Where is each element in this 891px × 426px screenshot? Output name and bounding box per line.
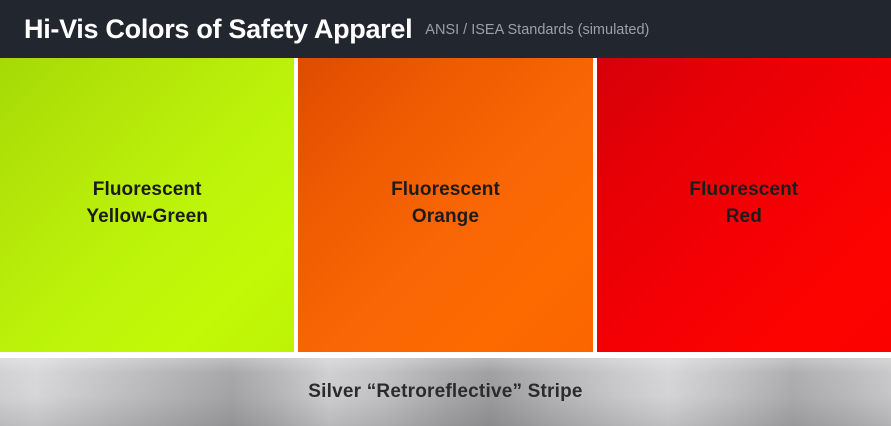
swatch-label-orange: Fluorescent Orange xyxy=(391,177,500,233)
swatch-row: Fluorescent Yellow-Green Fluorescent Ora… xyxy=(0,58,891,352)
swatch-fluorescent-red[interactable]: Fluorescent Red xyxy=(597,58,891,352)
swatch-fluorescent-yellow-green[interactable]: Fluorescent Yellow-Green xyxy=(0,58,294,352)
chart-header: Hi-Vis Colors of Safety Apparel ANSI / I… xyxy=(0,0,891,58)
silver-retroreflective-stripe: Silver “Retroreflective” Stripe xyxy=(0,358,891,426)
swatch-fluorescent-orange[interactable]: Fluorescent Orange xyxy=(298,58,592,352)
page-title: Hi-Vis Colors of Safety Apparel xyxy=(24,16,412,43)
header-subtitle: ANSI / ISEA Standards (simulated) xyxy=(425,23,649,38)
silver-stripe-label: Silver “Retroreflective” Stripe xyxy=(308,381,582,403)
hi-vis-color-chart: Hi-Vis Colors of Safety Apparel ANSI / I… xyxy=(0,0,891,426)
swatch-label-yellow-green: Fluorescent Yellow-Green xyxy=(86,177,208,233)
swatch-label-red: Fluorescent Red xyxy=(689,177,798,233)
